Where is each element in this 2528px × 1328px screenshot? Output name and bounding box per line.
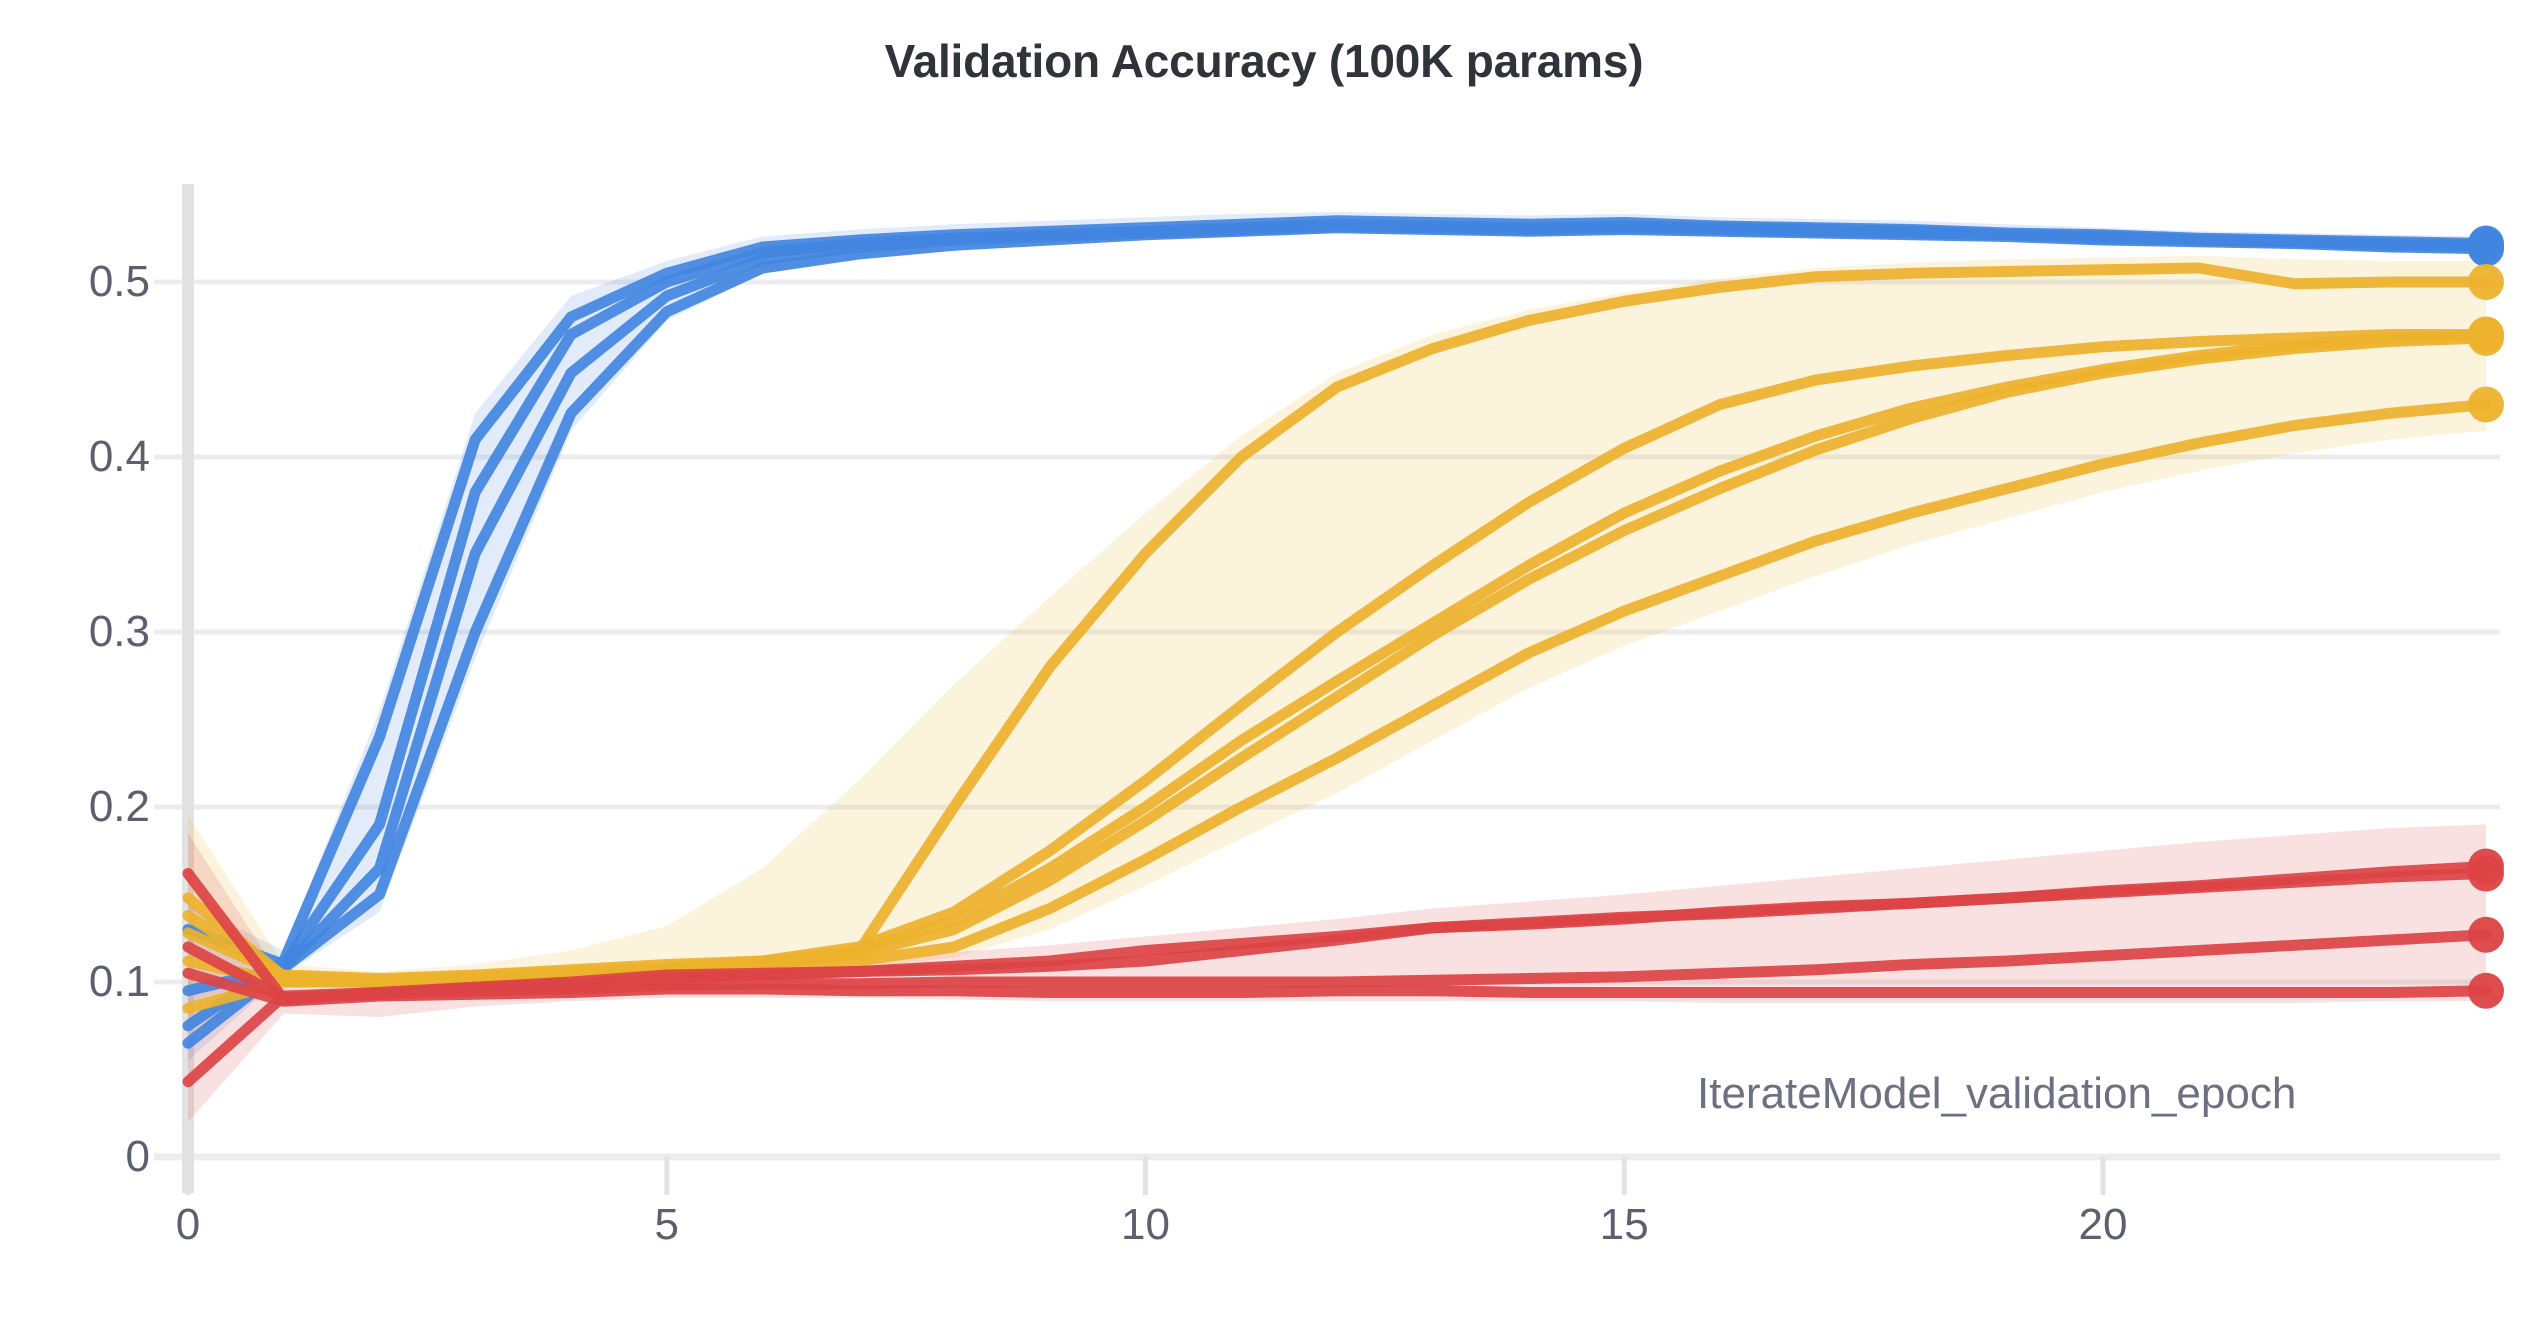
series-endpoint-red-3[interactable] bbox=[2468, 917, 2504, 953]
y-tick-label: 0 bbox=[30, 1132, 150, 1182]
chart-svg bbox=[0, 0, 2528, 1328]
series-endpoint-yellow-5[interactable] bbox=[2468, 387, 2504, 423]
y-tick-label: 0.2 bbox=[30, 782, 150, 832]
x-tick-label: 15 bbox=[1600, 1200, 1649, 1250]
x-tick-label: 10 bbox=[1121, 1200, 1170, 1250]
chart-root: Validation Accuracy (100K params) 00.10.… bbox=[0, 0, 2528, 1328]
x-tick-label: 5 bbox=[655, 1200, 679, 1250]
series-annotation-label: IterateModel_validation_epoch bbox=[1697, 1069, 2296, 1119]
series-endpoint-yellow-4[interactable] bbox=[2468, 320, 2504, 356]
series-endpoint-red-2[interactable] bbox=[2468, 856, 2504, 892]
y-tick-label: 0.1 bbox=[30, 957, 150, 1007]
series-endpoint-yellow-1[interactable] bbox=[2468, 264, 2504, 300]
y-tick-label: 0.5 bbox=[30, 257, 150, 307]
x-tick-label: 0 bbox=[176, 1200, 200, 1250]
series-endpoint-blue-4[interactable] bbox=[2468, 231, 2504, 267]
plot-area bbox=[0, 0, 2528, 1328]
y-tick-label: 0.4 bbox=[30, 432, 150, 482]
x-tick-label: 20 bbox=[2079, 1200, 2128, 1250]
series-endpoint-red-4[interactable] bbox=[2468, 973, 2504, 1009]
y-tick-label: 0.3 bbox=[30, 607, 150, 657]
